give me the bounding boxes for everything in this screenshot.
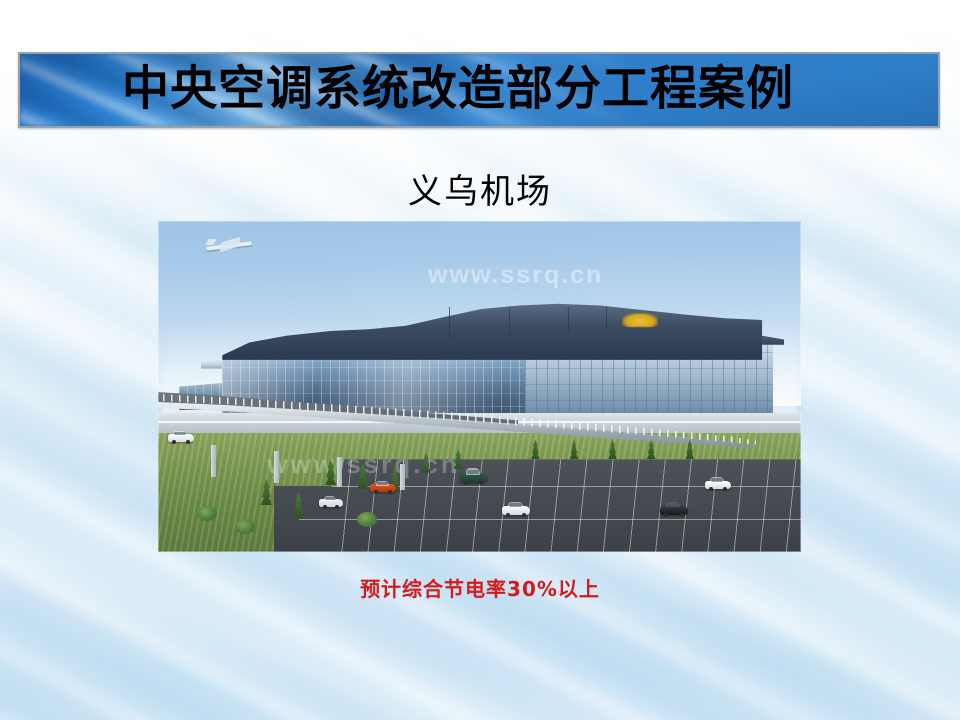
title-banner: 中央空调系统改造部分工程案例: [18, 52, 940, 128]
airport-photo: www.ssrq.cn: [158, 221, 801, 552]
photo-border: [158, 221, 801, 552]
page-title: 中央空调系统改造部分工程案例: [122, 66, 794, 113]
slide-canvas: 中央空调系统改造部分工程案例 义乌机场 www.ssrq.cn: [0, 0, 960, 720]
subtitle-heading: 义乌机场: [0, 164, 960, 213]
energy-saving-caption: 预计综合节电率30%以上: [0, 573, 960, 602]
